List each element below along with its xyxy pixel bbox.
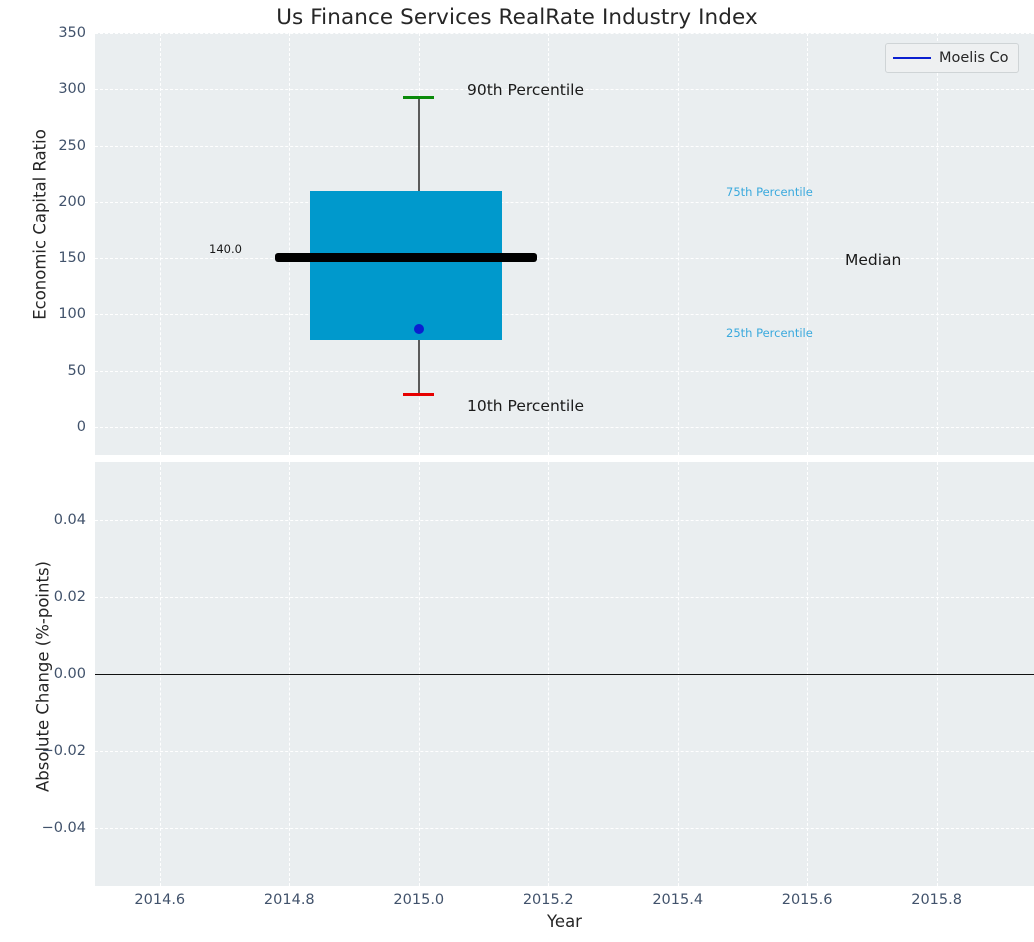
- plot-panel-absolute-change: [95, 462, 1034, 886]
- gridline-y-0: [95, 427, 1034, 428]
- xtick-2014.8: 2014.8: [264, 892, 315, 908]
- gridline-y-200: [95, 202, 1034, 203]
- xtick-2014.6: 2014.6: [134, 892, 185, 908]
- lower-whisker-cap: [403, 393, 434, 396]
- x-axis-label: Year: [95, 912, 1034, 931]
- annotation-75th-percentile: 75th Percentile: [726, 185, 813, 199]
- annotation-25th-percentile: 25th Percentile: [726, 326, 813, 340]
- y-axis-label-top: Economic Capital Ratio: [31, 125, 50, 325]
- ytick-50: 50: [2, 363, 86, 379]
- gridline-y-0.04: [95, 520, 1034, 521]
- ytick-0: 0: [2, 419, 86, 435]
- xtick-2015.6: 2015.6: [782, 892, 833, 908]
- ytick-0.04: 0.04: [2, 512, 86, 528]
- gridline-y-0.02: [95, 597, 1034, 598]
- gridline-y--0.02: [95, 751, 1034, 752]
- y-axis-label-bottom: Absolute Change (%-points): [34, 527, 53, 827]
- gridline-y--0.04: [95, 828, 1034, 829]
- xtick-2015.2: 2015.2: [523, 892, 574, 908]
- gridline-y-250: [95, 146, 1034, 147]
- annotation-10th-percentile: 10th Percentile: [467, 397, 584, 415]
- gridline-x-2014.6: [160, 33, 161, 455]
- xtick-2015.8: 2015.8: [911, 892, 962, 908]
- chart-title: Us Finance Services RealRate Industry In…: [0, 5, 1034, 30]
- legend-label-moelis-co: Moelis Co: [939, 50, 1009, 66]
- series-point-moelis-co[interactable]: [414, 324, 424, 334]
- gridline-x-2015.4: [678, 33, 679, 455]
- gridline-y-50: [95, 371, 1034, 372]
- xtick-2015.4: 2015.4: [652, 892, 703, 908]
- legend-line-icon: [893, 57, 931, 59]
- plot-panel-economic-capital-ratio: 90th Percentile 75th Percentile Median 2…: [95, 33, 1034, 455]
- ytick-300: 300: [2, 81, 86, 97]
- interquartile-box: [310, 191, 502, 340]
- annotation-90th-percentile: 90th Percentile: [467, 81, 584, 99]
- zero-reference-line: [95, 674, 1034, 676]
- annotation-median: Median: [845, 251, 901, 269]
- gridline-x-2014.8: [289, 33, 290, 455]
- gridline-x-2015.8: [937, 33, 938, 455]
- upper-whisker-cap: [403, 96, 434, 99]
- gridline-y-100: [95, 314, 1034, 315]
- ytick-350: 350: [2, 25, 86, 41]
- median-value-label: 140.0: [209, 242, 242, 256]
- median-line: [275, 253, 537, 263]
- chart-legend[interactable]: Moelis Co: [885, 43, 1019, 73]
- gridline-y-350: [95, 33, 1034, 34]
- xtick-2015.0: 2015.0: [393, 892, 444, 908]
- chart-figure: Us Finance Services RealRate Industry In…: [0, 0, 1034, 942]
- gridline-x-2015.6: [807, 33, 808, 455]
